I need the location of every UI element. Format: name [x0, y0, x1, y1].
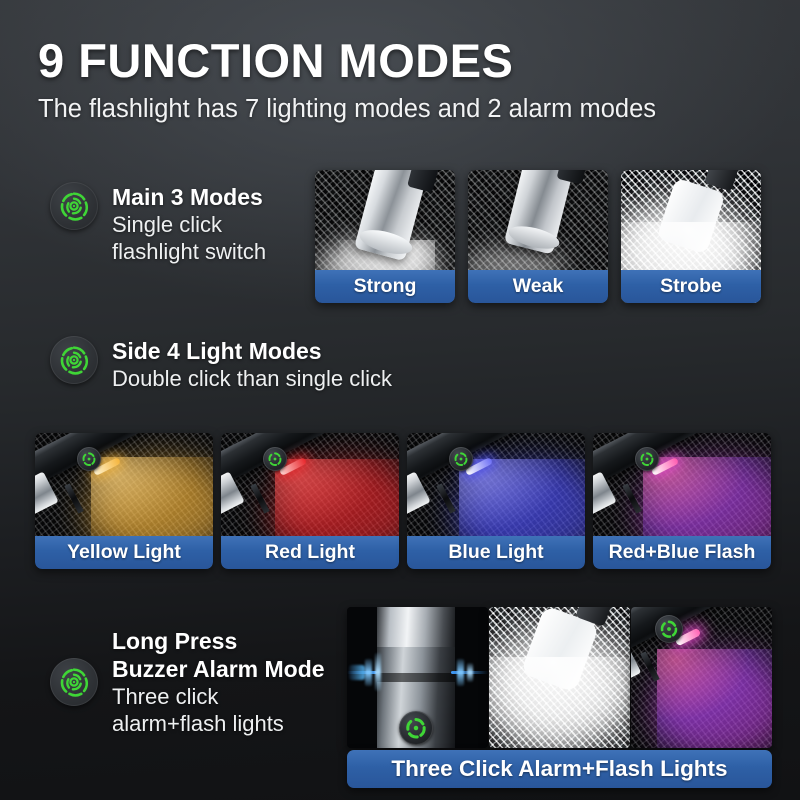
feature-side-4-light-modes: Side 4 Light Modes Double click than sin…: [50, 336, 392, 392]
mode-label-weak: Weak: [468, 270, 608, 303]
photo-alarm-red-blue-flash: [631, 607, 772, 748]
feature-heading: Side 4 Light Modes: [112, 337, 392, 365]
light-panel-blue[interactable]: Blue Light: [407, 433, 585, 569]
feature-buzzer-alarm-mode: Long Press Buzzer Alarm Mode Three click…: [50, 626, 325, 738]
feature-text: Main 3 Modes Single click flashlight swi…: [112, 182, 266, 266]
page-title: 9 FUNCTION MODES: [38, 36, 778, 85]
light-label-red-blue-flash: Red+Blue Flash: [593, 536, 771, 569]
feature-line-1: Single click: [112, 211, 266, 238]
mode-panel-strong[interactable]: Strong: [315, 170, 455, 303]
alarm-banner-label: Three Click Alarm+Flash Lights: [347, 750, 772, 788]
feature-heading-line-1: Long Press: [112, 627, 325, 655]
light-panel-red[interactable]: Red Light: [221, 433, 399, 569]
mode-panel-strobe[interactable]: Strobe: [621, 170, 761, 303]
feature-line-2: flashlight switch: [112, 238, 266, 265]
feature-text: Long Press Buzzer Alarm Mode Three click…: [112, 626, 325, 738]
feature-main-3-modes: Main 3 Modes Single click flashlight swi…: [50, 182, 266, 266]
light-panel-yellow[interactable]: Yellow Light: [35, 433, 213, 569]
feature-text: Side 4 Light Modes Double click than sin…: [112, 336, 392, 392]
light-label-red: Red Light: [221, 536, 399, 569]
page-subtitle: The flashlight has 7 lighting modes and …: [38, 95, 778, 124]
photo-buzzer-closeup: [347, 607, 488, 748]
feature-line-1: Double click than single click: [112, 365, 392, 392]
light-label-blue: Blue Light: [407, 536, 585, 569]
feature-line-1: Three click: [112, 683, 325, 710]
alarm-banner-text: Three Click Alarm+Flash Lights: [391, 756, 727, 782]
header: 9 FUNCTION MODES The flashlight has 7 li…: [38, 36, 778, 124]
aperture-icon: [50, 336, 98, 384]
feature-line-2: alarm+flash lights: [112, 710, 325, 737]
aperture-button-icon: [399, 711, 433, 745]
light-label-yellow: Yellow Light: [35, 536, 213, 569]
strobe-flash-panel[interactable]: [489, 607, 630, 748]
feature-heading: Main 3 Modes: [112, 183, 266, 211]
mode-panel-weak[interactable]: Weak: [468, 170, 608, 303]
infographic-page: 9 FUNCTION MODES The flashlight has 7 li…: [0, 0, 800, 800]
buzzer-closeup-panel[interactable]: [347, 607, 488, 748]
photo-strobe-flash: [489, 607, 630, 748]
red-blue-flash-panel[interactable]: [631, 607, 772, 748]
feature-heading-line-2: Buzzer Alarm Mode: [112, 655, 325, 683]
aperture-icon: [50, 658, 98, 706]
mode-label-strong: Strong: [315, 270, 455, 303]
aperture-icon: [50, 182, 98, 230]
light-panel-red-blue-flash[interactable]: Red+Blue Flash: [593, 433, 771, 569]
mode-label-strobe: Strobe: [621, 270, 761, 303]
